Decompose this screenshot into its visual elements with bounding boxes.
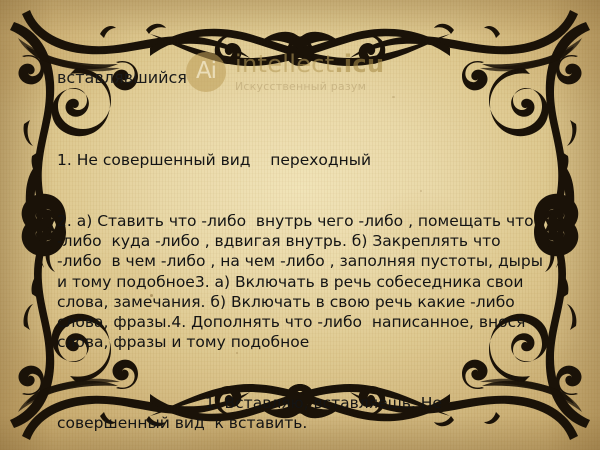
document-paragraph: 1. Вставляю, вставляешь. Не совершенный … (57, 393, 544, 433)
document-paragraph: 1. Не совершенный вид переходный (57, 150, 544, 170)
document-paragraph: 2. а) Ставить что -либо внутрь чего -либ… (57, 211, 544, 352)
page-title: вставлявшийся (57, 68, 187, 87)
document-body: 1. Не совершенный вид переходный 2. а) С… (57, 110, 544, 450)
parchment-page: Ai intellect.icu Искусственный разум вст… (0, 0, 600, 450)
document-content: вставлявшийся 1. Не совершенный вид пере… (0, 0, 600, 450)
